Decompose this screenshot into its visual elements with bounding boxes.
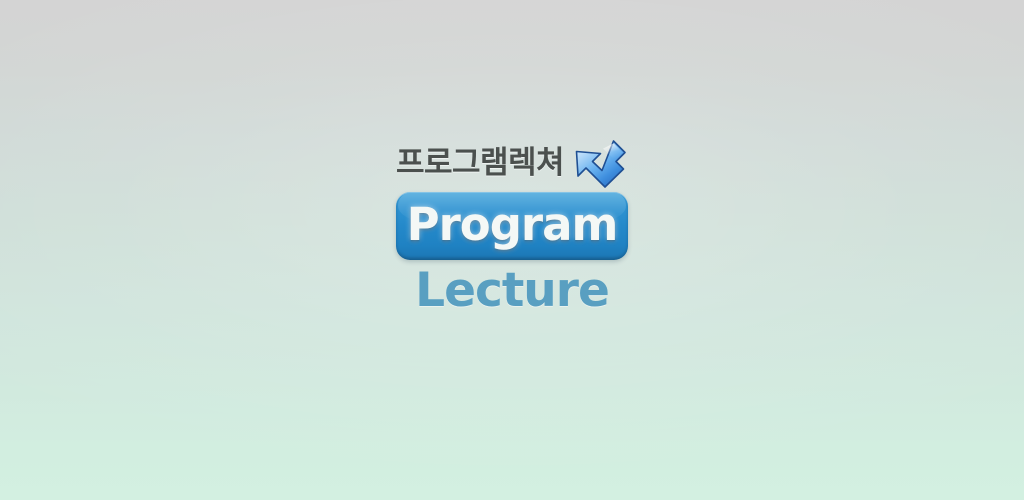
arrow-down-left-icon xyxy=(572,136,628,192)
splash-screen: 프로그램렉쳐 xyxy=(0,0,1024,500)
logo-block: 프로그램렉쳐 xyxy=(0,140,1024,315)
program-button[interactable]: Program xyxy=(396,192,628,260)
subtitle-row: 프로그램렉쳐 xyxy=(396,140,628,188)
lecture-title: Lecture xyxy=(415,266,609,315)
program-button-label: Program xyxy=(407,202,618,250)
korean-subtitle: 프로그램렉쳐 xyxy=(396,140,564,186)
